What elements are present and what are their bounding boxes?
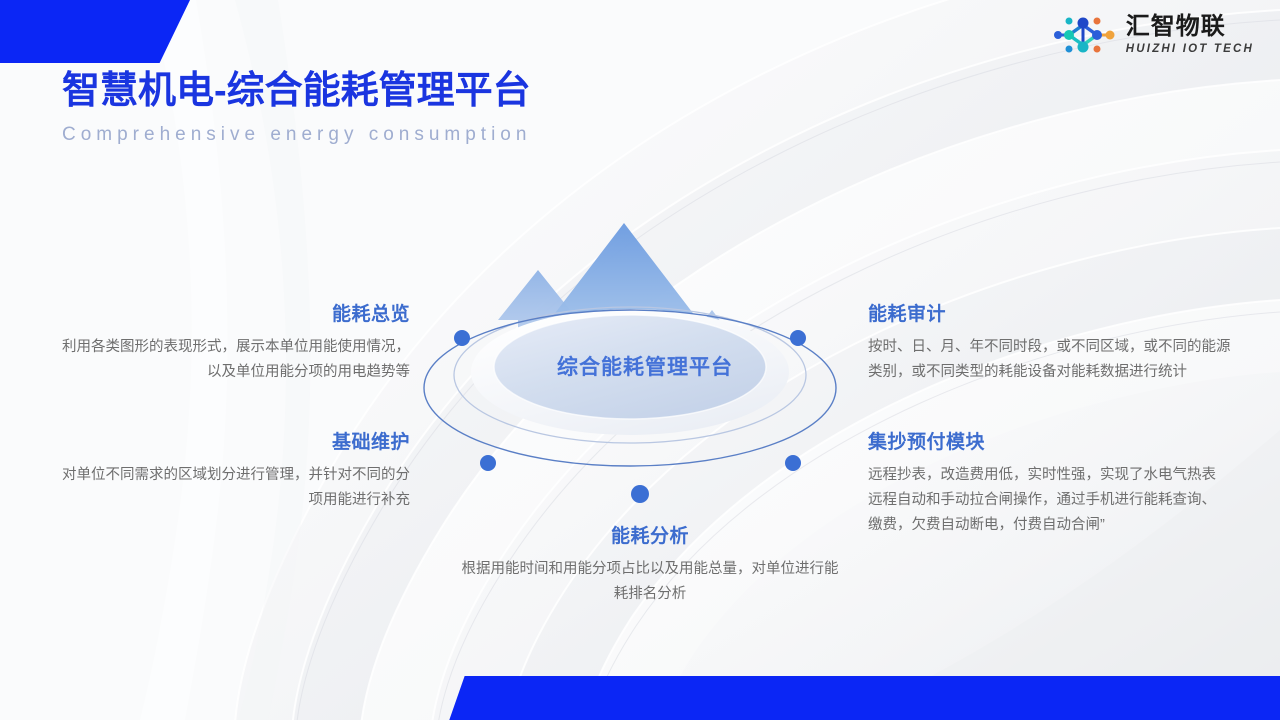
feature-title: 能耗总览 [62,303,410,328]
page-title: 智慧机电-综合能耗管理平台 [62,70,531,114]
logo-wordmark: 汇智物联 HUIZHI IOT TECH [1126,15,1254,56]
feature-body: 根据用能时间和用能分项占比以及用能总量，对单位进行能耗排名分析 [455,557,845,608]
brand-logo: 汇智物联 HUIZHI IOT TECH [1054,12,1254,58]
page-subtitle: Comprehensive energy consumption [62,124,531,146]
feature-body: 按时、日、月、年不同时段，或不同区域，或不同的能源类别，或不同类型的耗能设备对能… [868,335,1238,386]
feature-title: 集抄预付模块 [868,431,1230,456]
top-left-accent-shape [0,0,190,63]
logo-name-en: HUIZHI IOT TECH [1126,44,1254,56]
feature-body: 远程抄表，改造费用低，实时性强，实现了水电气热表远程自动和手动拉合闸操作，通过手… [868,463,1230,539]
header: 智慧机电-综合能耗管理平台 Comprehensive energy consu… [62,70,531,146]
logo-name-cn: 汇智物联 [1126,15,1254,39]
center-label: 综合能耗管理平台 [415,351,875,381]
feature-title: 能耗分析 [455,525,845,550]
orbit-dot [785,455,801,471]
feature-block-analysis: 能耗分析 根据用能时间和用能分项占比以及用能总量，对单位进行能耗排名分析 [455,525,845,607]
molecule-network-icon [1054,12,1116,58]
center-graphic: 综合能耗管理平台 [415,215,875,525]
feature-body: 对单位不同需求的区域划分进行管理，并针对不同的分项用能进行补充 [62,463,410,514]
feature-block-audit: 能耗审计 按时、日、月、年不同时段，或不同区域，或不同的能源类别，或不同类型的耗… [868,303,1238,385]
orbit-dot [790,330,806,346]
orbit-dot [631,485,649,503]
feature-title: 基础维护 [62,431,410,456]
feature-block-base: 基础维护 对单位不同需求的区域划分进行管理，并针对不同的分项用能进行补充 [62,431,410,513]
feature-block-overview: 能耗总览 利用各类图形的表现形式，展示本单位用能使用情况，以及单位用能分项的用电… [62,303,410,385]
feature-block-prepay: 集抄预付模块 远程抄表，改造费用低，实时性强，实现了水电气热表远程自动和手动拉合… [868,431,1230,539]
bottom-accent-bar [0,676,1280,720]
feature-title: 能耗审计 [868,303,1238,328]
feature-body: 利用各类图形的表现形式，展示本单位用能使用情况，以及单位用能分项的用电趋势等 [62,335,410,386]
orbit-dot [480,455,496,471]
slide-canvas: 智慧机电-综合能耗管理平台 Comprehensive energy consu… [0,0,1280,720]
orbit-dot [454,330,470,346]
